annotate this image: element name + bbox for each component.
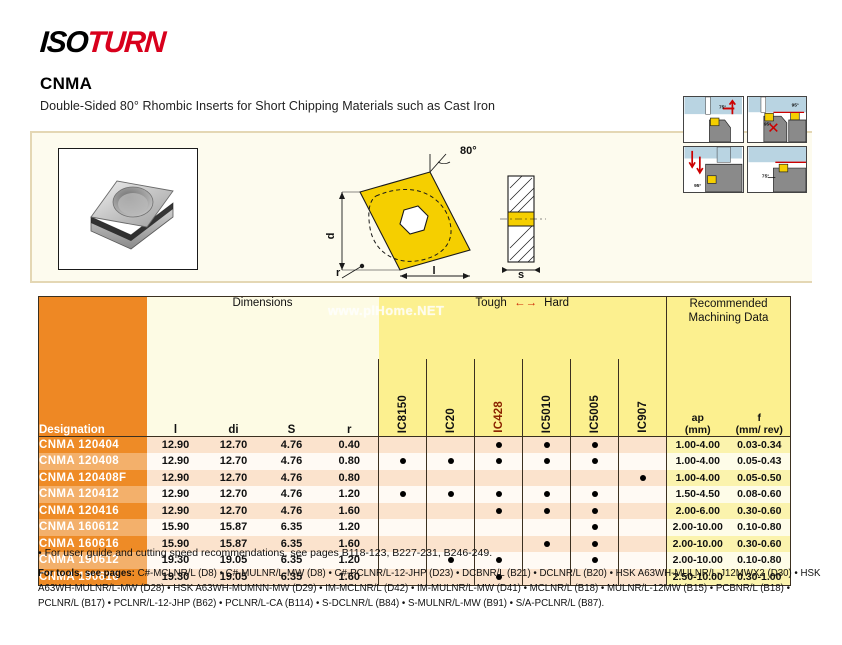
- dim-r-label: r: [336, 267, 341, 279]
- header-dim-l: l: [147, 359, 205, 437]
- cell-grade-ic5010: [523, 437, 571, 454]
- product-table: Designation Dimensions Tough ←→ Hard Rec…: [38, 296, 791, 586]
- svg-text:75°: 75°: [761, 174, 768, 180]
- cell-grade-ic5010: [523, 453, 571, 470]
- cell-grade-ic5005: [571, 470, 619, 487]
- tool-application-diagrams: 75° 95° 95°: [683, 96, 807, 193]
- insert-photo-image: [73, 161, 185, 259]
- page-subtitle: Double-Sided 80° Rhombic Inserts for Sho…: [40, 99, 495, 113]
- product-table-body: CNMA 12040412.9012.704.760.401.00-4.000.…: [39, 437, 791, 586]
- cell-grade-ic8150: [379, 453, 427, 470]
- toughness-left-label: Tough: [475, 297, 506, 309]
- logo-iso-text: ISO: [39, 26, 88, 59]
- grade-available-dot: [640, 475, 646, 481]
- cell-dim-l: 15.90: [147, 519, 205, 536]
- cell-grade-ic907: [619, 470, 667, 487]
- title-block: CNMA Double-Sided 80° Rhombic Inserts fo…: [40, 74, 495, 113]
- cell-dim-s: 4.76: [263, 453, 321, 470]
- table-row[interactable]: CNMA 16061215.9015.876.351.202.00-10.000…: [39, 519, 791, 536]
- insert-photo-frame: [58, 148, 198, 270]
- header-f-symbol: f: [729, 412, 791, 424]
- toughness-arrow-icon: ←→: [510, 297, 541, 309]
- cell-dim-di: 12.70: [205, 453, 263, 470]
- cell-grade-ic8150: [379, 503, 427, 520]
- cell-grade-ic428: [475, 470, 523, 487]
- cell-dim-l: 12.90: [147, 437, 205, 454]
- cell-dim-l: 12.90: [147, 503, 205, 520]
- cell-grade-ic20: [427, 486, 475, 503]
- cell-ap: 2.00-6.00: [667, 503, 729, 520]
- cell-dim-s: 4.76: [263, 503, 321, 520]
- cell-dim-s: 4.76: [263, 470, 321, 487]
- cell-grade-ic5010: [523, 503, 571, 520]
- header-grade-ic20: IC20: [427, 359, 475, 437]
- cell-designation: CNMA 120408F: [39, 470, 147, 487]
- toughness-right-label: Hard: [544, 297, 569, 309]
- header-f: f (mm/ rev): [729, 359, 791, 437]
- cell-ap: 1.00-4.00: [667, 470, 729, 487]
- technical-drawing: d l r 80° s: [312, 140, 562, 282]
- header-grade-ic428: IC428: [475, 359, 523, 437]
- cell-f: 0.03-0.34: [729, 437, 791, 454]
- grade-available-dot: [544, 508, 550, 514]
- svg-text:95°: 95°: [763, 122, 770, 128]
- cell-dim-s: 4.76: [263, 486, 321, 503]
- dim-d-label: d: [325, 233, 337, 240]
- footer-tools-text: C#-MCLNR/L (D8) • C#-MULNR/L-MW (D8) • C…: [38, 568, 820, 609]
- cell-ap: 1.00-4.00: [667, 453, 729, 470]
- cell-grade-ic20: [427, 503, 475, 520]
- cell-grade-ic907: [619, 519, 667, 536]
- header-ap: ap (mm): [667, 359, 729, 437]
- grade-available-dot: [592, 458, 598, 464]
- cell-grade-ic5010: [523, 470, 571, 487]
- cell-dim-di: 12.70: [205, 437, 263, 454]
- cell-grade-ic20: [427, 437, 475, 454]
- dim-s-label: s: [518, 269, 524, 281]
- cell-grade-ic8150: [379, 470, 427, 487]
- grade-available-dot: [496, 442, 502, 448]
- cell-designation: CNMA 160612: [39, 519, 147, 536]
- cell-ap: 2.00-10.00: [667, 519, 729, 536]
- cell-f: 0.10-0.80: [729, 519, 791, 536]
- header-grade-ic5005: IC5005: [571, 359, 619, 437]
- cell-dim-r: 0.80: [321, 470, 379, 487]
- cell-grade-ic428: [475, 519, 523, 536]
- svg-text:95°: 95°: [791, 103, 798, 109]
- cell-f: 0.05-0.43: [729, 453, 791, 470]
- cell-dim-r: 1.20: [321, 519, 379, 536]
- grade-available-dot: [592, 442, 598, 448]
- footer-note: • For user guide and cutting speed recom…: [38, 547, 828, 559]
- table-row[interactable]: CNMA 120408F12.9012.704.760.801.00-4.000…: [39, 470, 791, 487]
- svg-text:75°: 75°: [719, 104, 726, 110]
- cell-grade-ic428: [475, 486, 523, 503]
- grade-available-dot: [544, 491, 550, 497]
- grade-available-dot: [400, 491, 406, 497]
- svg-text:95°: 95°: [694, 183, 701, 189]
- header-dim-s: S: [263, 359, 321, 437]
- tool-diagram-4: 75°: [747, 146, 808, 193]
- cell-grade-ic907: [619, 486, 667, 503]
- cell-dim-l: 12.90: [147, 453, 205, 470]
- cell-grade-ic428: [475, 503, 523, 520]
- cell-designation: CNMA 120404: [39, 437, 147, 454]
- grade-available-dot: [592, 491, 598, 497]
- cell-dim-r: 1.20: [321, 486, 379, 503]
- grade-available-dot: [544, 541, 550, 547]
- tool-diagram-1: 75°: [683, 96, 744, 143]
- header-f-unit: (mm/ rev): [729, 424, 791, 436]
- cell-grade-ic907: [619, 453, 667, 470]
- cell-grade-ic907: [619, 437, 667, 454]
- cell-dim-s: 6.35: [263, 519, 321, 536]
- header-dim-di: di: [205, 359, 263, 437]
- cell-designation: CNMA 120416: [39, 503, 147, 520]
- header-grade-ic8150: IC8150: [379, 359, 427, 437]
- table-row[interactable]: CNMA 12040412.9012.704.760.401.00-4.000.…: [39, 437, 791, 454]
- grade-available-dot: [592, 541, 598, 547]
- page-title: CNMA: [40, 74, 495, 94]
- cell-grade-ic5005: [571, 519, 619, 536]
- grade-available-dot: [592, 524, 598, 530]
- cell-dim-r: 0.80: [321, 453, 379, 470]
- catalog-page: ISOTURN CNMA Double-Sided 80° Rhombic In…: [0, 0, 842, 645]
- grade-available-dot: [496, 491, 502, 497]
- cell-dim-di: 12.70: [205, 486, 263, 503]
- header-dim-r: r: [321, 359, 379, 437]
- cell-grade-ic5005: [571, 486, 619, 503]
- header-designation: Designation: [39, 297, 147, 437]
- header-grade-ic907: IC907: [619, 359, 667, 437]
- cell-ap: 1.00-4.00: [667, 437, 729, 454]
- grade-available-dot: [448, 458, 454, 464]
- cell-grade-ic8150: [379, 486, 427, 503]
- cell-grade-ic5005: [571, 503, 619, 520]
- isoturn-logo: ISOTURN: [39, 28, 166, 58]
- cell-f: 0.30-0.60: [729, 503, 791, 520]
- cell-dim-r: 1.60: [321, 503, 379, 520]
- tool-diagram-3: 95°: [683, 146, 744, 193]
- grade-available-dot: [496, 458, 502, 464]
- cell-grade-ic8150: [379, 519, 427, 536]
- cell-dim-di: 12.70: [205, 503, 263, 520]
- cell-grade-ic428: [475, 437, 523, 454]
- dim-l-label: l: [432, 265, 435, 277]
- table-row[interactable]: CNMA 12040812.9012.704.760.801.00-4.000.…: [39, 453, 791, 470]
- cell-dim-di: 12.70: [205, 470, 263, 487]
- cell-dim-di: 15.87: [205, 519, 263, 536]
- cell-grade-ic5010: [523, 486, 571, 503]
- footer-tools-label: For tools, see pages:: [38, 568, 135, 579]
- cell-dim-r: 0.40: [321, 437, 379, 454]
- grade-available-dot: [544, 442, 550, 448]
- table-row[interactable]: CNMA 12041612.9012.704.761.602.00-6.000.…: [39, 503, 791, 520]
- grade-available-dot: [400, 458, 406, 464]
- header-grade-ic5010: IC5010: [523, 359, 571, 437]
- cell-designation: CNMA 120408: [39, 453, 147, 470]
- cell-dim-l: 12.90: [147, 470, 205, 487]
- cell-grade-ic20: [427, 470, 475, 487]
- cell-grade-ic5005: [571, 437, 619, 454]
- cell-grade-ic20: [427, 453, 475, 470]
- grade-available-dot: [496, 508, 502, 514]
- cell-f: 0.08-0.60: [729, 486, 791, 503]
- cell-dim-s: 4.76: [263, 437, 321, 454]
- cell-grade-ic907: [619, 503, 667, 520]
- header-ap-unit: (mm): [667, 424, 729, 436]
- cell-grade-ic20: [427, 519, 475, 536]
- header-ap-symbol: ap: [667, 412, 729, 424]
- grade-available-dot: [544, 458, 550, 464]
- angle-label: 80°: [460, 145, 477, 157]
- header-group-machining: Recommended Machining Data: [667, 297, 791, 359]
- grade-available-dot: [592, 508, 598, 514]
- grade-available-dot: [448, 491, 454, 497]
- cell-f: 0.05-0.50: [729, 470, 791, 487]
- cell-designation: CNMA 120412: [39, 486, 147, 503]
- footer-tools: For tools, see pages: C#-MCLNR/L (D8) • …: [38, 566, 828, 611]
- tool-diagram-2: 95° 95°: [747, 96, 808, 143]
- table-row[interactable]: CNMA 12041212.9012.704.761.201.50-4.500.…: [39, 486, 791, 503]
- cell-grade-ic5010: [523, 519, 571, 536]
- logo-turn-text: TURN: [86, 26, 166, 59]
- cell-grade-ic428: [475, 453, 523, 470]
- cell-dim-l: 12.90: [147, 486, 205, 503]
- cell-ap: 1.50-4.50: [667, 486, 729, 503]
- cell-grade-ic5005: [571, 453, 619, 470]
- header-group-dimensions: Dimensions: [147, 297, 379, 359]
- header-group-toughness: Tough ←→ Hard: [379, 297, 667, 359]
- cell-grade-ic8150: [379, 437, 427, 454]
